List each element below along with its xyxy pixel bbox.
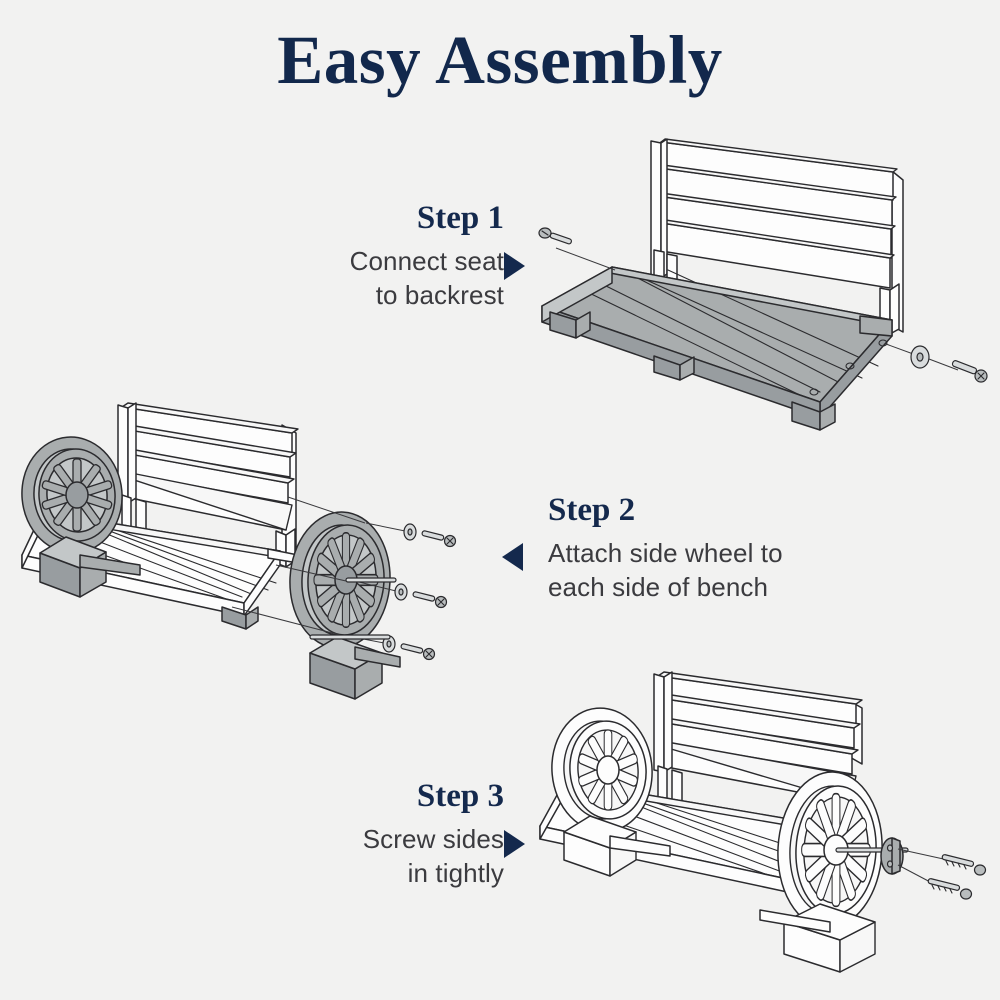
bolt-left xyxy=(539,228,615,270)
triangle-right-icon xyxy=(504,830,525,858)
assembly-instructions-page: Easy Assembly xyxy=(0,0,1000,1000)
step-2-text: Step 2 Attach side wheel to each side of… xyxy=(548,492,858,605)
washer-and-bolt-right xyxy=(886,344,987,382)
step-1-body-line-1: Connect seat xyxy=(254,244,504,278)
step-3-heading: Step 3 xyxy=(254,778,504,816)
wagon-wheel-left xyxy=(547,704,670,876)
wagon-wheel-right xyxy=(287,509,400,699)
step-3-body-line-2: in tightly xyxy=(254,856,504,890)
triangle-left-icon xyxy=(502,543,523,571)
step-3-text: Step 3 Screw sides in tightly xyxy=(254,778,504,891)
seat-panel xyxy=(542,267,892,430)
step-1-illustration xyxy=(520,130,1000,430)
step-2-heading: Step 2 xyxy=(548,492,858,530)
step-1-text: Step 1 Connect seat to backrest xyxy=(254,200,504,313)
triangle-right-icon xyxy=(504,252,525,280)
step-3-illustration xyxy=(530,660,1000,1000)
step-2-body-line-2: each side of bench xyxy=(548,570,858,604)
wagon-wheel-right xyxy=(760,769,886,972)
page-title: Easy Assembly xyxy=(0,26,1000,95)
step-2-illustration xyxy=(10,385,490,725)
step-2-body-line-1: Attach side wheel to xyxy=(548,536,858,570)
step-1-heading: Step 1 xyxy=(254,200,504,238)
step-3-body-line-1: Screw sides xyxy=(254,822,504,856)
step-1-body-line-2: to backrest xyxy=(254,278,504,312)
